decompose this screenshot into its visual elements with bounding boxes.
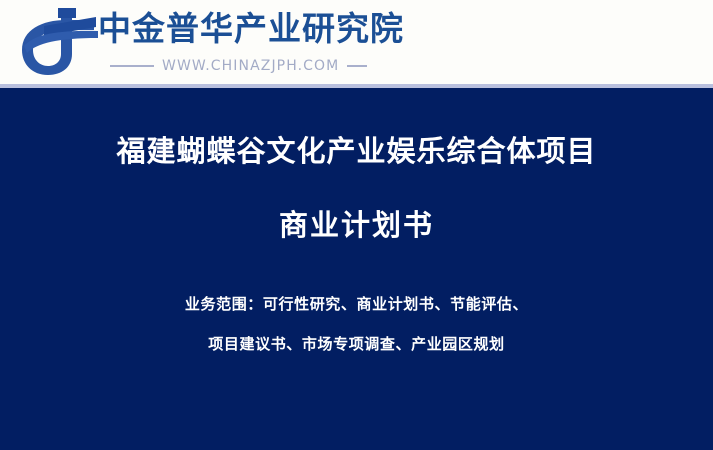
company-logo-icon [14,6,100,76]
rule-dash-left [110,65,154,67]
business-scope-block: 业务范围：可行性研究、商业计划书、节能评估、 项目建议书、市场专项调查、产业园区… [0,284,713,364]
brand-block: 中金普华产业研究院 WWW.CHINAZJPH.COM [14,4,424,80]
report-cover-page: 中金普华产业研究院 WWW.CHINAZJPH.COM 福建蝴蝶谷文化产业娱乐综… [0,0,713,450]
letterhead-header: 中金普华产业研究院 WWW.CHINAZJPH.COM [0,0,713,84]
cover-body: 福建蝴蝶谷文化产业娱乐综合体项目 商业计划书 业务范围：可行性研究、商业计划书、… [0,88,713,450]
company-website: WWW.CHINAZJPH.COM [162,58,339,74]
rule-dash-right [347,65,367,67]
company-website-row: WWW.CHINAZJPH.COM [110,56,410,76]
business-scope-line: 项目建议书、市场专项调查、产业园区规划 [0,324,713,364]
company-name: 中金普华产业研究院 [98,9,404,49]
page-subtitle: 商业计划书 [0,206,713,244]
page-title: 福建蝴蝶谷文化产业娱乐综合体项目 [0,132,713,170]
business-scope-line: 业务范围：可行性研究、商业计划书、节能评估、 [0,284,713,324]
